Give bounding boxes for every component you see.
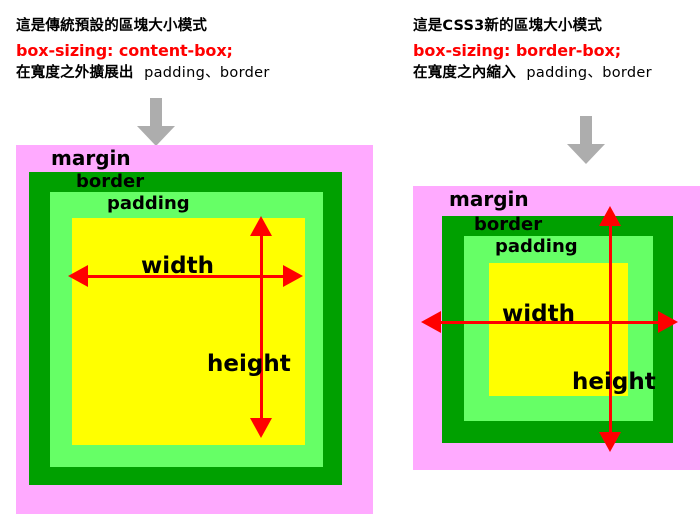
right-caption-line-3: 在寬度之內縮入 padding、border xyxy=(413,63,700,84)
left-caption-line-3-tail: padding、border xyxy=(144,65,270,81)
arrow-shaft xyxy=(580,116,592,146)
arrow-tip-bottom xyxy=(250,418,272,438)
padding-label: padding xyxy=(495,238,578,256)
left-caption-line-3: 在寬度之外擴展出 padding、border xyxy=(16,63,396,84)
gray-down-arrow-icon xyxy=(567,116,605,164)
left-caption: 這是傳統預設的區塊大小模式 box-sizing: content-box; 在… xyxy=(16,16,396,84)
arrow-tip-right xyxy=(283,265,303,287)
arrow-head xyxy=(137,126,175,146)
arrow-head xyxy=(567,144,605,164)
padding-label: padding xyxy=(107,195,190,213)
right-caption-code: box-sizing: border-box; xyxy=(413,39,700,62)
right-caption: 這是CSS3新的區塊大小模式 box-sizing: border-box; 在… xyxy=(413,16,700,84)
margin-label: margin xyxy=(51,148,131,168)
arrow-shaft xyxy=(150,98,162,128)
left-caption-code: box-sizing: content-box; xyxy=(16,39,396,62)
margin-area xyxy=(16,145,373,514)
arrow-tip-right xyxy=(658,311,678,333)
border-area xyxy=(29,172,342,485)
arrow-tip-bottom xyxy=(599,432,621,452)
width-label: width xyxy=(502,303,575,326)
height-label: height xyxy=(207,353,291,376)
right-caption-line-1: 這是CSS3新的區塊大小模式 xyxy=(413,16,700,37)
height-label: height xyxy=(572,371,656,394)
padding-area xyxy=(50,192,323,467)
right-caption-line-3-head: 在寬度之內縮入 xyxy=(413,65,516,81)
left-caption-line-3-head: 在寬度之外擴展出 xyxy=(16,65,134,81)
border-label: border xyxy=(76,173,144,191)
arrow-line xyxy=(260,227,263,427)
height-dimension-arrow xyxy=(250,216,272,438)
content-box-panel: 這是傳統預設的區塊大小模式 box-sizing: content-box; 在… xyxy=(0,0,400,514)
margin-label: margin xyxy=(449,189,529,209)
left-caption-line-1: 這是傳統預設的區塊大小模式 xyxy=(16,16,396,37)
border-label: border xyxy=(474,216,542,234)
gray-down-arrow-icon xyxy=(137,98,175,146)
right-caption-line-3-tail: padding、border xyxy=(526,65,652,81)
width-label: width xyxy=(141,255,214,278)
